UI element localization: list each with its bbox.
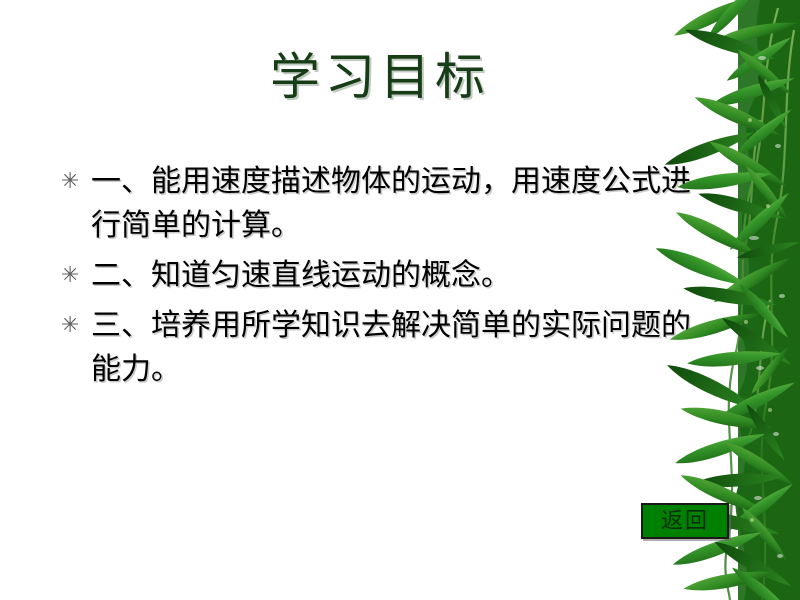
- star-bullet-icon: ✳: [58, 254, 91, 298]
- objective-text-3: 三、培养用所学知识去解决简单的实际问题的能力。: [91, 304, 718, 392]
- return-button[interactable]: 返回: [641, 503, 729, 539]
- return-button-label: 返回: [661, 510, 709, 532]
- star-bullet-icon: ✳: [58, 160, 91, 204]
- objectives-list: ✳ 一、能用速度描述物体的运动，用速度公式进行简单的计算。 ✳ 二、知道匀速直线…: [58, 160, 718, 398]
- presentation-slide: 学习目标 ✳ 一、能用速度描述物体的运动，用速度公式进行简单的计算。 ✳ 二、知…: [0, 0, 800, 600]
- objective-text-2: 二、知道匀速直线运动的概念。: [91, 254, 718, 298]
- list-item: ✳ 一、能用速度描述物体的运动，用速度公式进行简单的计算。: [58, 160, 718, 248]
- list-item: ✳ 二、知道匀速直线运动的概念。: [58, 254, 718, 298]
- slide-title: 学习目标: [0, 52, 760, 102]
- star-bullet-icon: ✳: [58, 304, 91, 348]
- list-item: ✳ 三、培养用所学知识去解决简单的实际问题的能力。: [58, 304, 718, 392]
- objective-text-1: 一、能用速度描述物体的运动，用速度公式进行简单的计算。: [91, 160, 718, 248]
